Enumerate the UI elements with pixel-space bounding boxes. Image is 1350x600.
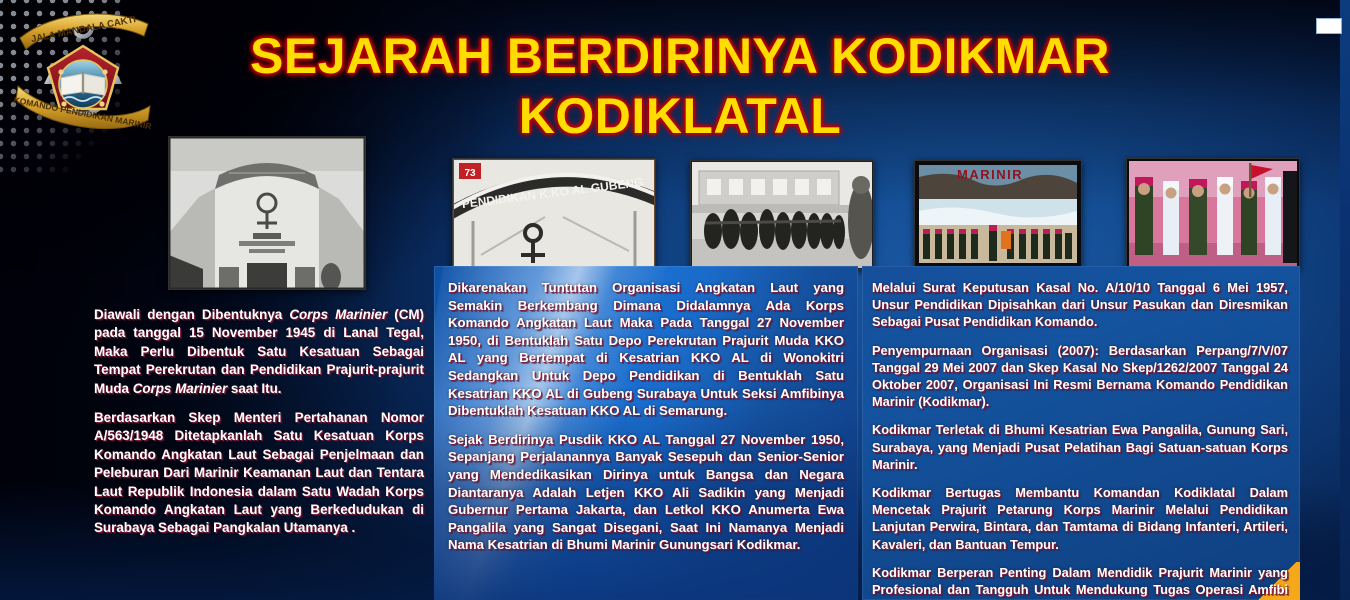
title-line-1: SEJARAH BERDIRINYA KODIKMAR: [250, 28, 1110, 84]
photo-gerbang-gubeng: PENDIDIKAN K.KO AL GUBENG 73: [452, 158, 656, 270]
paragraf-kanan-4: Kodikmar Bertugas Membantu Komandan Kodi…: [872, 484, 1288, 553]
paragraf-tengah-1: Dikarenakan Tuntutan Organisasi Angkatan…: [448, 279, 844, 420]
kolom-kanan: Melalui Surat Keputusan Kasal No. A/10/1…: [862, 266, 1300, 600]
photo-upacara-marinir: [1126, 158, 1300, 270]
paragraf-kiri-2: Berdasarkan Skep Menteri Pertahanan Nomo…: [94, 409, 424, 538]
paragraf-kanan-3: Kodikmar Terletak di Bhumi Kesatrian Ewa…: [872, 421, 1288, 473]
svg-text:73: 73: [464, 168, 476, 179]
kodikmar-logo: JALA MANDALA CAKTI KOMANDO PENDIDIKAN MA…: [14, 6, 152, 136]
paragraf-kiri-1: Diawali dengan Dibentuknya Corps Marinie…: [94, 306, 424, 398]
svg-text:MARINIR: MARINIR: [957, 167, 1023, 182]
paragraf-kanan-1: Melalui Surat Keputusan Kasal No. A/10/1…: [872, 279, 1288, 331]
photo-pasukan-baris: [690, 160, 874, 270]
page-title: SEJARAH BERDIRINYA KODIKMAR KODIKLATAL: [180, 26, 1180, 146]
top-right-white-chip: [1316, 18, 1342, 34]
right-edge-strip: [1340, 0, 1350, 600]
photo-marinir-pantai: MARINIR: [914, 160, 1082, 268]
slide-root: JALA MANDALA CAKTI KOMANDO PENDIDIKAN MA…: [0, 0, 1350, 600]
kolom-kiri: Diawali dengan Dibentuknya Corps Marinie…: [78, 292, 426, 600]
photo-lanal-tegal: [168, 136, 366, 290]
paragraf-kanan-5: Kodikmar Berperan Penting Dalam Mendidik…: [872, 564, 1288, 600]
kolom-tengah: Dikarenakan Tuntutan Organisasi Angkatan…: [434, 266, 858, 600]
paragraf-kanan-2: Penyempurnaan Organisasi (2007): Berdasa…: [872, 342, 1288, 411]
paragraf-tengah-2: Sejak Berdirinya Pusdik KKO AL Tanggal 2…: [448, 431, 844, 554]
